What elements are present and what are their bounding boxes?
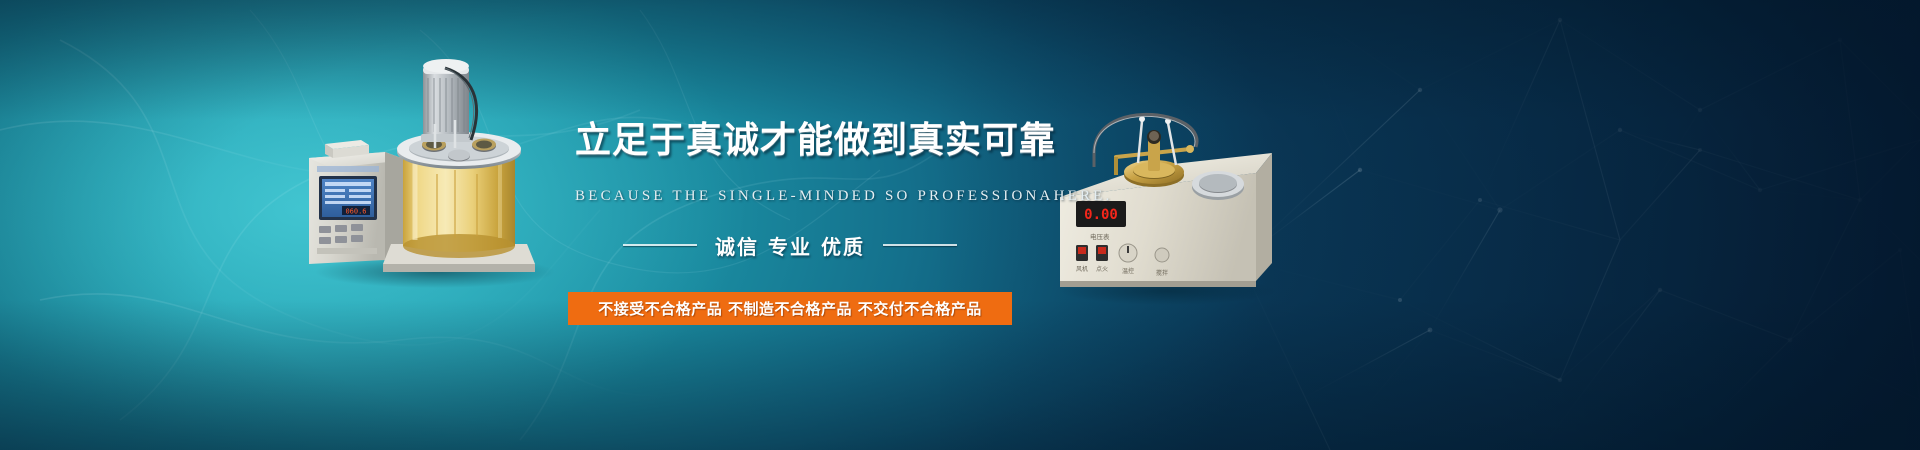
banner-text-block: 立足于真诚才能做到真实可靠 BECAUSE THE SINGLE-MINDED …: [0, 0, 1920, 450]
promo-banner: 060.6: [0, 0, 1920, 450]
quality-pledge-text: 不接受不合格产品 不制造不合格产品 不交付不合格产品: [598, 298, 981, 319]
keyword-row: 诚信 专业 优质: [575, 228, 1005, 262]
headline-slogan: 立足于真诚才能做到真实可靠: [575, 121, 1005, 161]
english-subtitle: BECAUSE THE SINGLE-MINDED SO PROFESSIONA…: [575, 188, 1005, 205]
quality-pledge-badge: 不接受不合格产品 不制造不合格产品 不交付不合格产品: [568, 292, 1012, 325]
divider-rule-left: [623, 244, 697, 246]
keyword-text: 诚信 专业 优质: [715, 231, 865, 260]
divider-rule-right: [883, 244, 957, 246]
